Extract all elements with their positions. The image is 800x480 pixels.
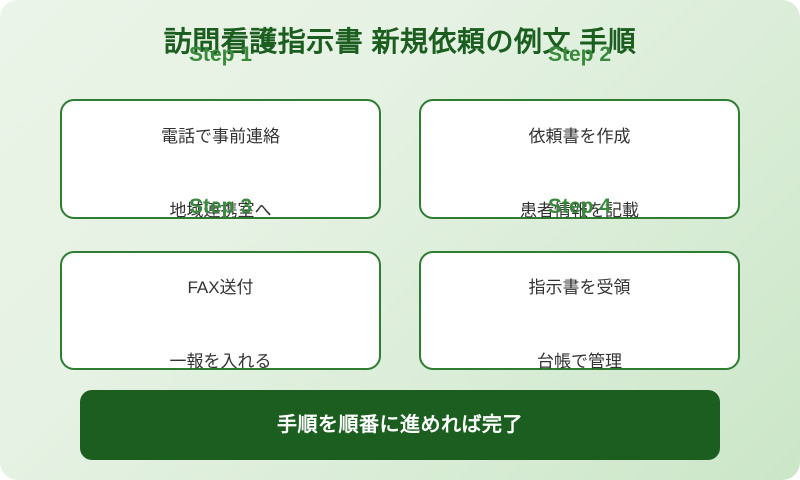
summary-banner: 手順を順番に進めれば完了 (80, 390, 720, 460)
step-card-2-label: Step 2 (548, 43, 611, 66)
step-card-1-line-1: 電話で事前連絡 (161, 125, 280, 150)
step-card-2-line-1: 依頼書を作成 (520, 125, 639, 150)
steps-grid: Step 1 電話で事前連絡 地域連携室へ Step 2 依頼書を作成 患者情報… (60, 99, 740, 370)
step-card-4: Step 4 指示書を受領 台帳で管理 (419, 251, 740, 370)
step-card-4-label: Step 4 (548, 195, 611, 218)
page-title: 訪問看護指示書 新規依頼の例文 手順 (0, 24, 800, 59)
step-card-3-label: Step 3 (189, 195, 252, 218)
step-card-4-line-1: 指示書を受領 (529, 276, 631, 301)
step-card-3: Step 3 FAX送付 一報を入れる (60, 251, 381, 370)
step-card-4-line-2: 台帳で管理 (529, 350, 631, 375)
step-card-3-line-1: FAX送付 (170, 276, 272, 301)
step-card-1-label: Step 1 (189, 43, 252, 66)
infographic-root: 訪問看護指示書 新規依頼の例文 手順 Step 1 電話で事前連絡 地域連携室へ… (0, 0, 800, 480)
summary-banner-text: 手順を順番に進めれば完了 (277, 413, 523, 437)
step-card-3-line-2: 一報を入れる (170, 350, 272, 375)
